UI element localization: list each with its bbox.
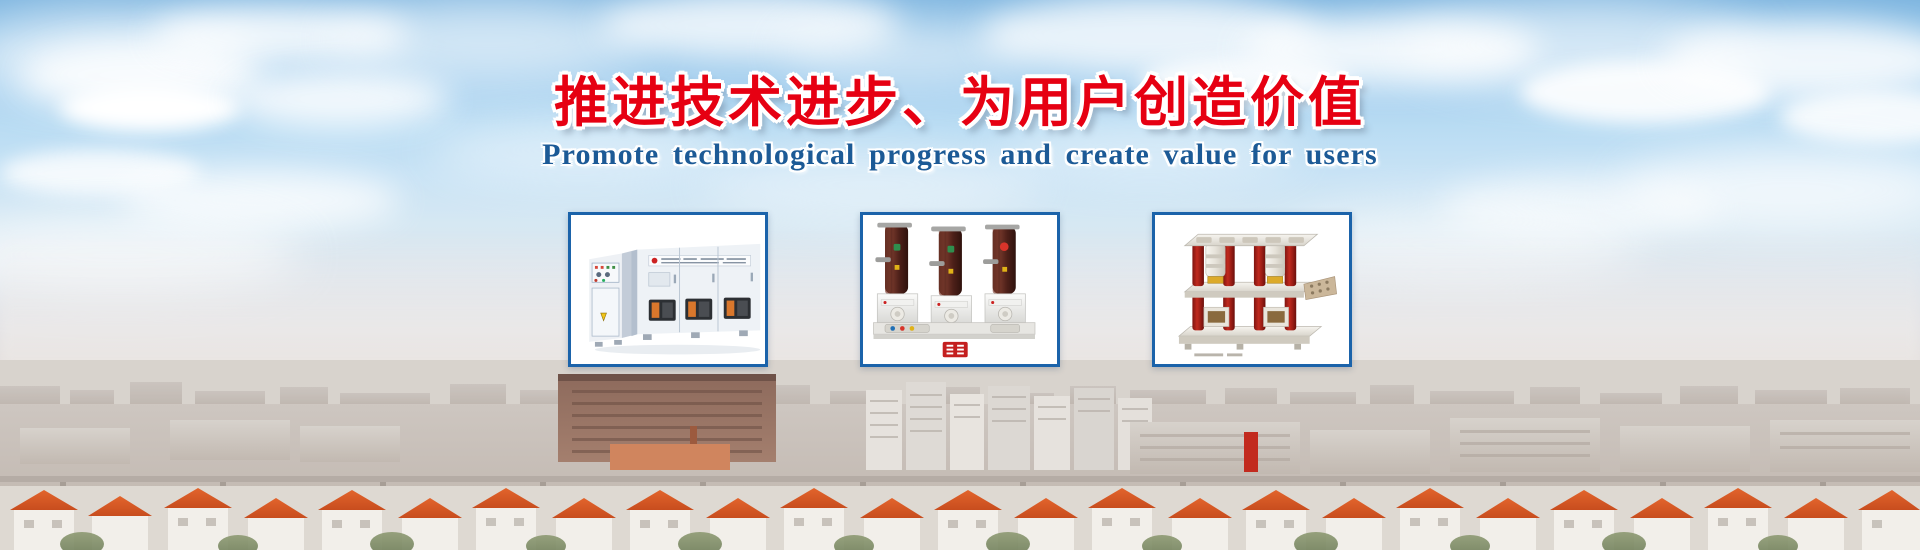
hv-vacuum-contactor-image — [1155, 215, 1349, 364]
product-image-row — [0, 212, 1920, 372]
product-panel-hv-contactor[interactable] — [1152, 212, 1352, 367]
product-panel-vacuum-circuit-breaker[interactable] — [860, 212, 1060, 367]
vacuum-circuit-breakers-image — [863, 215, 1057, 364]
cityscape-background — [0, 360, 1920, 550]
promo-banner: 推进技术进步、为用户创造价值 Promote technological pro… — [0, 0, 1920, 550]
product-panel-switchgear[interactable] — [568, 212, 768, 367]
banner-headline: 推进技术进步、为用户创造价值 — [0, 58, 1920, 137]
switchgear-cabinets-image — [571, 215, 765, 364]
skyline-silhouette — [0, 360, 1920, 550]
banner-subtitle: Promote technological progress and creat… — [0, 138, 1920, 172]
